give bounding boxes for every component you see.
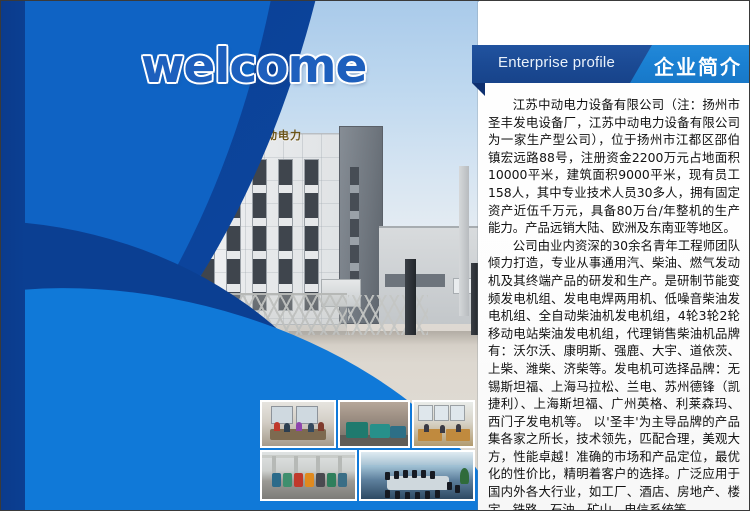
photo-conference-room — [359, 450, 475, 501]
accordion-gate-secondary — [348, 295, 428, 335]
photo-office-meeting — [260, 400, 336, 448]
welcome-headline: welcome — [141, 39, 366, 94]
photo-open-office — [412, 400, 475, 448]
company-profile-banner: 中动电力 江苏中动电力设备有限公司 Zhongdong Power Equipm… — [0, 0, 750, 511]
banner-english-label: Enterprise profile — [498, 54, 615, 71]
profile-paragraph-2: 公司由业内资深的30余名青年工程师团队倾力打造，专业从事通用汽、柴油、燃气发动机… — [488, 237, 740, 511]
section-banner: Enterprise profile 企业简介 — [472, 45, 750, 83]
company-profile-text: 江苏中动电力设备有限公司（注：扬州市圣丰发电设备厂，江苏中动电力设备有限公司为一… — [488, 96, 740, 511]
hero-photo-area: 中动电力 江苏中动电力设备有限公司 Zhongdong Power Equipm… — [1, 1, 479, 510]
profile-paragraph-1: 江苏中动电力设备有限公司（注：扬州市圣丰发电设备厂，江苏中动电力设备有限公司为一… — [488, 96, 740, 237]
left-edge-band — [1, 1, 25, 510]
photo-collage — [260, 400, 475, 501]
gate-post-left — [405, 259, 416, 335]
chimney-stack — [459, 166, 469, 316]
photo-production-line — [260, 450, 357, 501]
photo-generator-workshop — [338, 400, 410, 448]
banner-chinese-label: 企业简介 — [654, 51, 742, 80]
